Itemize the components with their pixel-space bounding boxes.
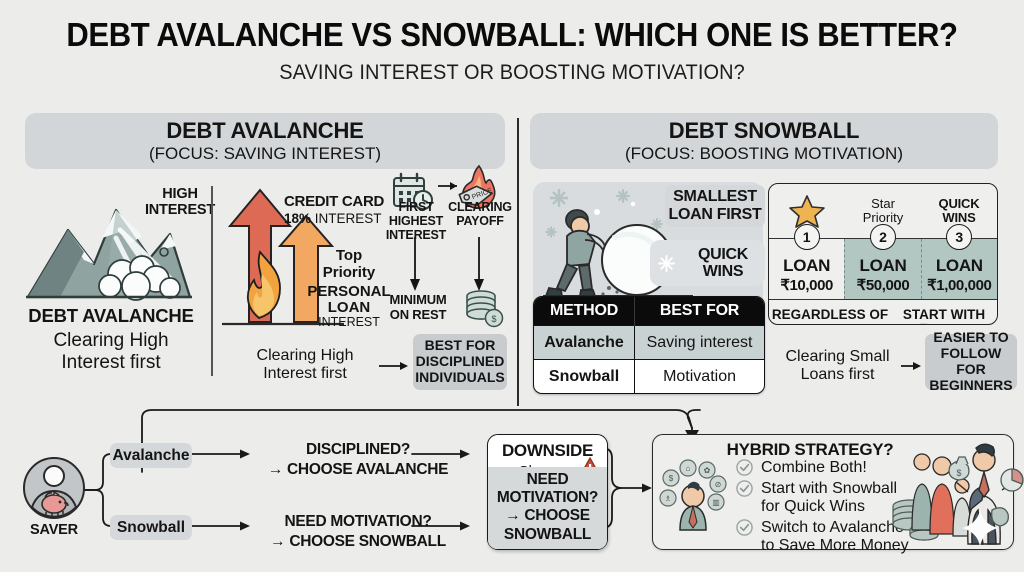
downside-strip-line2: → CHOOSE SNOWBALL bbox=[488, 507, 607, 544]
avalanche-verdict-badge: BEST FOR DISCIPLINED INDIVIDUALS bbox=[413, 334, 507, 390]
clearing-payoff-line1: CLEARING bbox=[445, 200, 515, 214]
snowball-loan-priority-table: Star Priority QUICK WINS 1 LOAN ₹10,000 … bbox=[768, 183, 998, 325]
clearing-payoff-label: CLEARING PAYOFF bbox=[445, 200, 515, 228]
svg-text:$: $ bbox=[491, 314, 496, 324]
hybrid-item-2a: Start with Snowball bbox=[761, 480, 897, 499]
avalanche-sub-line1: Clearing High bbox=[16, 330, 206, 352]
snowball-verdict-line2: FOLLOW FOR bbox=[925, 346, 1017, 378]
snowball-verdict-line1: EASIER TO bbox=[933, 330, 1008, 346]
avalanche-verdict-line3: INDIVIDUALS bbox=[415, 370, 504, 386]
loan-rank-2: 2 bbox=[870, 224, 896, 250]
high-interest-line2: INTEREST bbox=[132, 202, 228, 218]
hybrid-item-3a: Switch to Avalanche bbox=[761, 519, 909, 538]
downside-box: DOWNSIDE ✕ Slow progress ✕ Higher cost N… bbox=[487, 434, 608, 550]
arrow-down-right-icon bbox=[470, 237, 488, 293]
avalanche-icon-title: DEBT AVALANCHE bbox=[16, 306, 206, 327]
minimum-line2: ON REST bbox=[380, 308, 456, 323]
snowball-flow-note-line1: Clearing Small bbox=[775, 348, 900, 366]
top-priority-line2: Priority bbox=[304, 265, 394, 282]
first-highest-line2: HIGHEST bbox=[380, 214, 452, 228]
arrow-down-left-icon bbox=[406, 237, 424, 293]
check-circle-icon bbox=[736, 480, 753, 497]
loan-rank-3: 3 bbox=[946, 224, 972, 250]
hybrid-item-3b: to Save More Money bbox=[761, 537, 909, 556]
loan-quick-wins-line1: QUICK bbox=[939, 197, 980, 211]
smallest-loan-line1: SMALLEST bbox=[673, 188, 757, 206]
first-highest-interest-label: FIRST HIGHEST INTEREST bbox=[380, 200, 452, 242]
branch-snowball-pill: Snowball bbox=[110, 515, 192, 540]
avalanche-flow-note: Clearing High Interest first bbox=[235, 347, 375, 384]
coins-stack-icon: $ bbox=[462, 288, 506, 328]
credit-card-rate-suffix: INTEREST bbox=[311, 211, 382, 226]
avalanche-header-title: DEBT AVALANCHE bbox=[25, 119, 505, 144]
star-icon bbox=[789, 194, 825, 228]
method-comparison-table: METHOD BEST FOR Avalanche Saving interes… bbox=[533, 296, 765, 394]
snowball-panel-header: DEBT SNOWBALL (FOCUS: BOOSTING MOTIVATIO… bbox=[530, 113, 998, 169]
loan-footer-right-line1: START WITH bbox=[903, 307, 985, 322]
quick-wins-line2: WINS bbox=[681, 263, 765, 280]
quick-wins-badge: QUICK WINS bbox=[650, 240, 765, 286]
avalanche-high-interest-label: HIGH INTEREST bbox=[132, 186, 228, 218]
avalanche-flow-note-line1: Clearing High bbox=[235, 347, 375, 365]
loan-footer-left-line1: REGARDLESS OF bbox=[772, 307, 888, 322]
hybrid-item-2b: for Quick Wins bbox=[761, 498, 897, 517]
saver-avatar-icon bbox=[22, 455, 86, 521]
comparison-header-row: METHOD BEST FOR bbox=[534, 297, 764, 326]
snowball-flow-note-line2: Loans first bbox=[775, 366, 900, 384]
star-priority-line1: Star bbox=[863, 197, 903, 211]
minimum-on-rest-label: MINIMUM ON REST bbox=[380, 293, 456, 322]
branch-avalanche-label: Avalanche bbox=[113, 447, 190, 465]
check-circle-icon bbox=[736, 459, 753, 476]
page-title: DEBT AVALANCHE VS SNOWBALL: WHICH ONE IS… bbox=[31, 18, 994, 53]
loan-footer-left-line2: INTEREST RATE bbox=[772, 322, 888, 325]
high-interest-line1: HIGH bbox=[132, 186, 228, 202]
snowball-header-subtitle: (FOCUS: BOOSTING MOTIVATION) bbox=[530, 144, 998, 164]
avalanche-verdict-line1: BEST FOR bbox=[425, 338, 496, 354]
question-disciplined-line1: DISCIPLINED? bbox=[258, 440, 458, 460]
snowball-verdict-badge: EASIER TO FOLLOW FOR BEGINNERS bbox=[925, 334, 1017, 390]
svg-text:▥: ▥ bbox=[712, 498, 720, 507]
snowball-flow-note: Clearing Small Loans first bbox=[775, 348, 900, 385]
comparison-method-avalanche: Avalanche bbox=[534, 326, 635, 360]
title-block: DEBT AVALANCHE VS SNOWBALL: WHICH ONE IS… bbox=[0, 18, 1024, 85]
loan-label-1: LOAN bbox=[783, 256, 830, 276]
loan-amount-1: ₹10,000 bbox=[780, 276, 833, 294]
question-motivation-line1: NEED MOTIVATION? bbox=[258, 512, 458, 532]
loan-footer-right-line2: ₹10,000 bbox=[903, 322, 985, 325]
check-circle-icon bbox=[736, 519, 753, 536]
loan-cell-1: 1 LOAN ₹10,000 bbox=[769, 239, 844, 299]
loan-amount-2: ₹50,000 bbox=[857, 276, 910, 294]
avalanche-top-priority-label: Top Priority bbox=[304, 248, 394, 281]
question-motivation: NEED MOTIVATION? → CHOOSE SNOWBALL bbox=[258, 512, 458, 552]
loan-footer-right: START WITH ₹10,000 bbox=[891, 300, 997, 325]
hybrid-title: HYBRID STRATEGY? bbox=[700, 440, 920, 460]
loan-label-2: LOAN bbox=[860, 256, 907, 276]
svg-text:✿: ✿ bbox=[704, 466, 711, 475]
loan-cell-2: 2 LOAN ₹50,000 bbox=[844, 239, 920, 299]
minimum-line1: MINIMUM bbox=[380, 293, 456, 308]
avalanche-verdict-line2: DISCIPLINED bbox=[416, 354, 505, 370]
svg-text:$: $ bbox=[956, 468, 961, 478]
svg-text:⌂: ⌂ bbox=[686, 464, 691, 473]
comparison-bestfor-avalanche: Saving interest bbox=[635, 326, 764, 360]
avalanche-header-subtitle: (FOCUS: SAVING INTEREST) bbox=[25, 144, 505, 164]
branch-snowball-label: Snowball bbox=[117, 519, 185, 537]
svg-text:♗: ♗ bbox=[664, 494, 671, 503]
hybrid-item-1: Combine Both! bbox=[761, 459, 867, 478]
infographic-canvas: DEBT AVALANCHE VS SNOWBALL: WHICH ONE IS… bbox=[0, 0, 1024, 572]
table-row: Avalanche Saving interest bbox=[534, 326, 764, 360]
avalanche-verdict-arrow-icon bbox=[378, 358, 414, 374]
question-disciplined-line2: → CHOOSE AVALANCHE bbox=[258, 460, 458, 480]
saver-label: SAVER bbox=[18, 522, 90, 538]
quick-wins-line1: QUICK bbox=[681, 246, 765, 263]
table-row: Snowball Motivation bbox=[534, 360, 764, 393]
clearing-payoff-line2: PAYOFF bbox=[445, 214, 515, 228]
loan-rank-1: 1 bbox=[794, 224, 820, 250]
question-disciplined: DISCIPLINED? → CHOOSE AVALANCHE bbox=[258, 440, 458, 480]
snowball-verdict-arrow-icon bbox=[900, 358, 926, 374]
first-highest-line1: FIRST bbox=[380, 200, 452, 214]
comparison-bestfor-snowball: Motivation bbox=[635, 360, 764, 393]
avalanche-icon-subtitle: Clearing High Interest first bbox=[16, 330, 206, 374]
snowball-header-title: DEBT SNOWBALL bbox=[530, 119, 998, 144]
loan-table-footer-row: REGARDLESS OF INTEREST RATE START WITH ₹… bbox=[769, 300, 997, 325]
avalanche-panel-header: DEBT AVALANCHE (FOCUS: SAVING INTEREST) bbox=[25, 113, 505, 169]
avalanche-sub-line2: Interest first bbox=[16, 352, 206, 374]
panel-divider bbox=[517, 118, 519, 406]
comparison-header-bestfor: BEST FOR bbox=[635, 297, 764, 326]
loan-amount-3: ₹1,00,000 bbox=[927, 276, 991, 294]
question-motivation-line2: → CHOOSE SNOWBALL bbox=[258, 532, 458, 552]
smallest-loan-line2: LOAN FIRST bbox=[669, 206, 762, 224]
loan-table-middle-row: 1 LOAN ₹10,000 2 LOAN ₹50,000 3 LOAN ₹1,… bbox=[769, 238, 997, 300]
top-priority-line1: Top bbox=[304, 248, 394, 265]
svg-text:$: $ bbox=[669, 474, 674, 483]
downside-strip: NEED MOTIVATION? → CHOOSE SNOWBALL bbox=[488, 467, 607, 549]
loan-footer-left: REGARDLESS OF INTEREST RATE bbox=[769, 300, 891, 325]
loan-label-3: LOAN bbox=[936, 256, 983, 276]
comparison-header-method: METHOD bbox=[534, 297, 635, 326]
downside-strip-line1: NEED MOTIVATION? bbox=[488, 471, 607, 508]
smallest-loan-first-badge: SMALLEST LOAN FIRST bbox=[665, 185, 765, 227]
snowball-verdict-line3: BEGINNERS bbox=[929, 378, 1012, 394]
page-subtitle: SAVING INTEREST OR BOOSTING MOTIVATION? bbox=[26, 61, 999, 85]
sparkle-icon bbox=[960, 508, 1000, 548]
comparison-method-snowball: Snowball bbox=[534, 360, 635, 393]
svg-text:⊘: ⊘ bbox=[715, 480, 722, 489]
avalanche-flow-note-line2: Interest first bbox=[235, 365, 375, 383]
person-finance-icons: $⌂✿ ⊘♗▥ bbox=[658, 458, 730, 534]
loan-cell-3: 3 LOAN ₹1,00,000 bbox=[921, 239, 997, 299]
snowflake-icon bbox=[658, 255, 675, 272]
avalanche-inner-divider bbox=[211, 186, 213, 376]
branch-avalanche-pill: Avalanche bbox=[110, 443, 192, 468]
credit-card-rate: 18% bbox=[284, 211, 311, 226]
